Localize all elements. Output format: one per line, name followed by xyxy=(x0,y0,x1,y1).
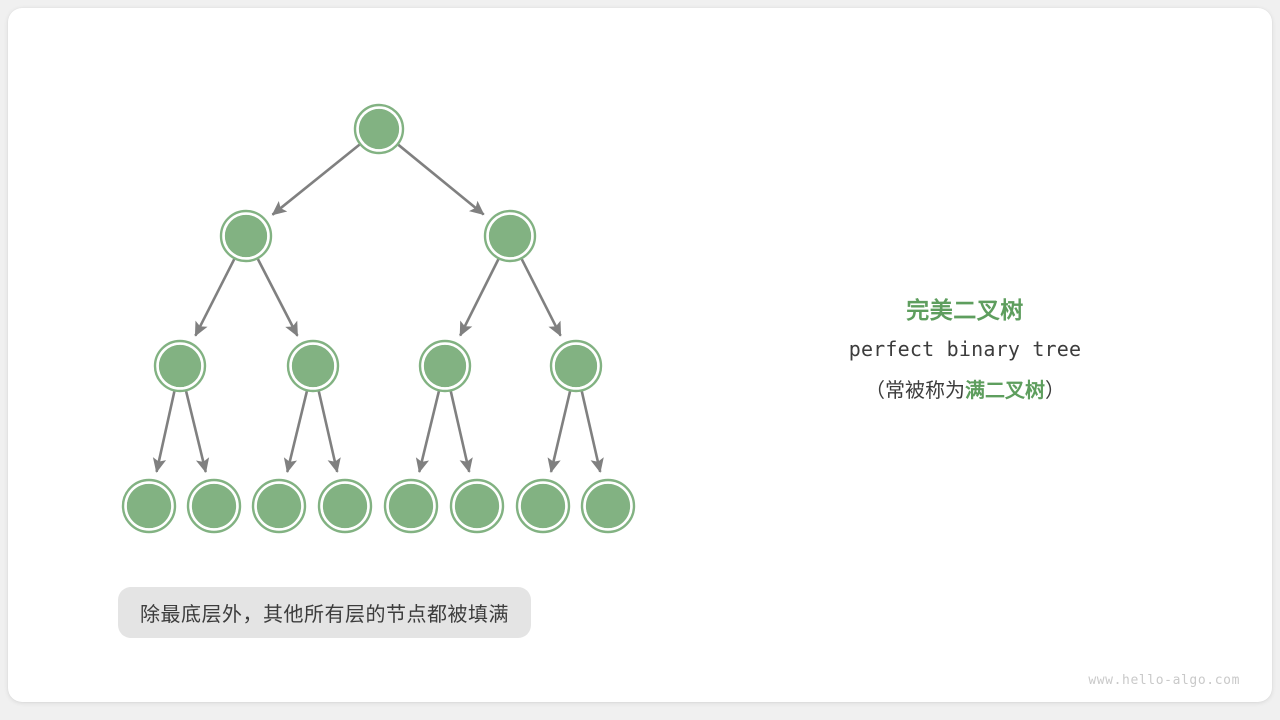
legend-alt-highlight: 满二叉树 xyxy=(965,380,1045,402)
legend-subtitle: perfect binary tree xyxy=(790,328,1140,370)
figure-canvas: 完美二叉树 perfect binary tree （常被称为满二叉树） 除最底… xyxy=(0,0,1280,720)
legend-alt-suffix: ） xyxy=(1045,380,1065,402)
watermark: www.hello-algo.com xyxy=(1088,673,1240,688)
caption-pill: 除最底层外，其他所有层的节点都被填满 xyxy=(118,587,531,638)
legend-title: 完美二叉树 xyxy=(790,292,1140,328)
legend-alt-prefix: （常被称为 xyxy=(865,380,965,402)
legend-alt-name: （常被称为满二叉树） xyxy=(790,370,1140,412)
legend-block: 完美二叉树 perfect binary tree （常被称为满二叉树） xyxy=(790,292,1140,412)
